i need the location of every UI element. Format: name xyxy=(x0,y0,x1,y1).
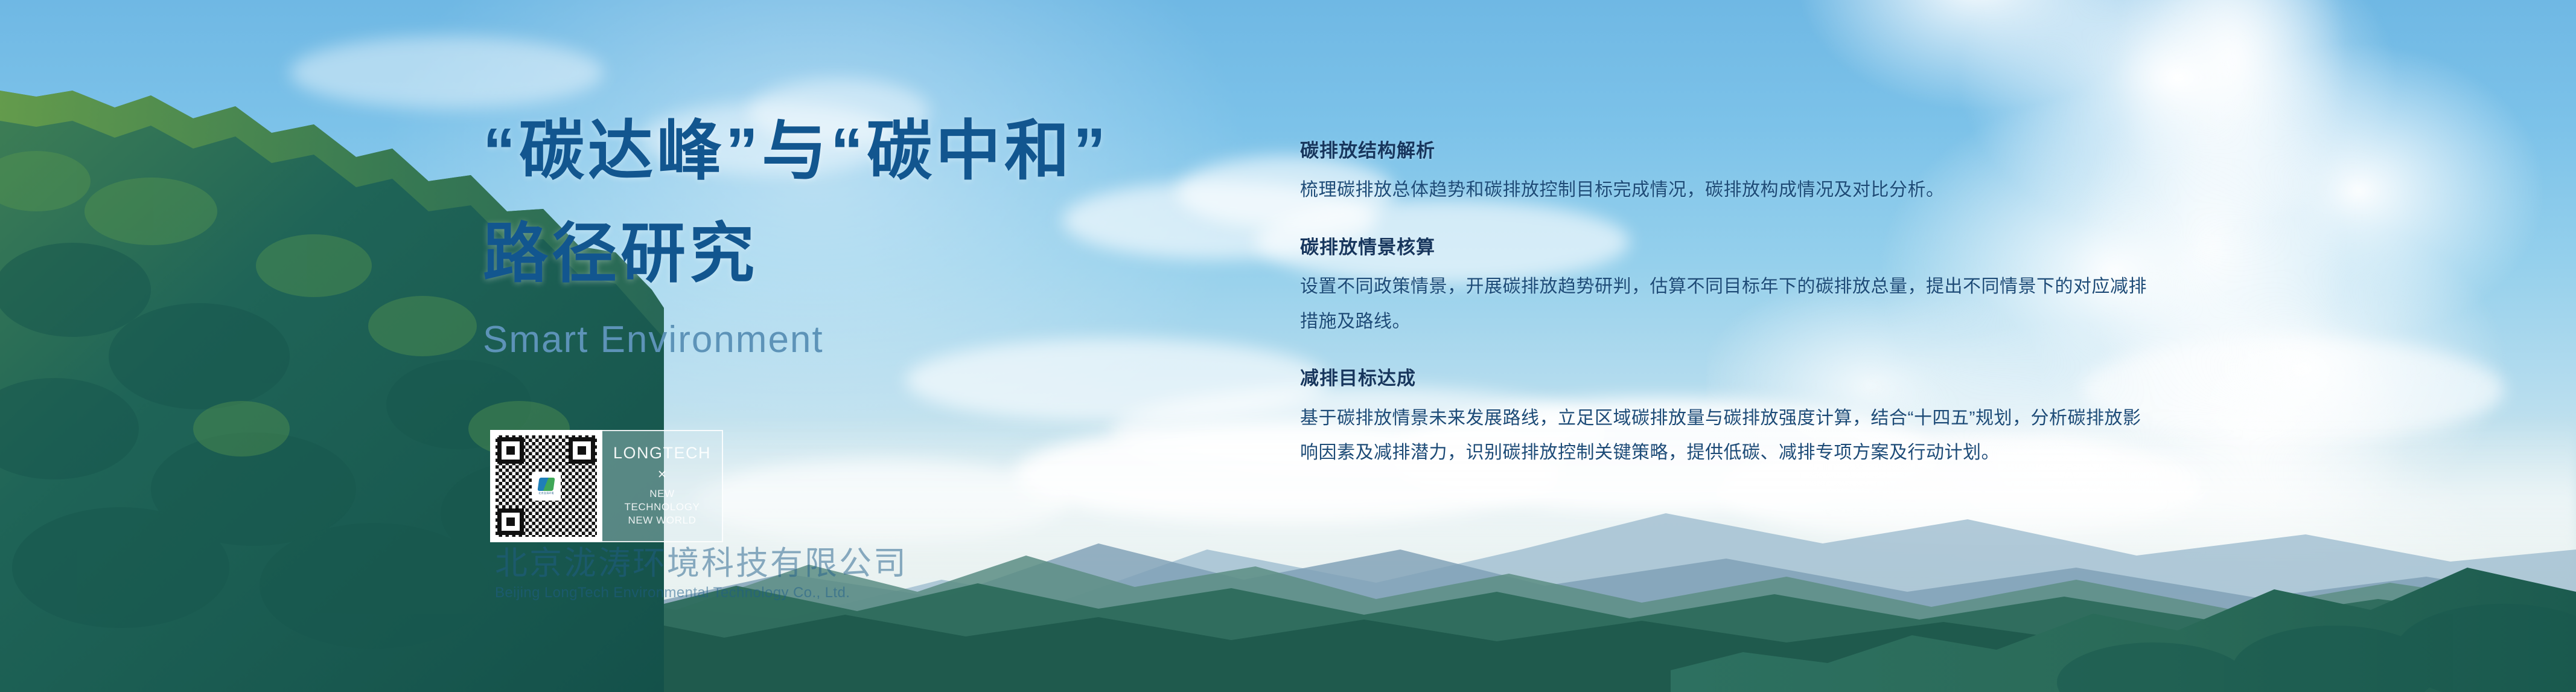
qr-finder-bottom-left-icon xyxy=(497,508,524,535)
foreground-forest-right xyxy=(1671,471,2576,692)
qr-center-logo-icon: 北京泷涛环境 xyxy=(532,472,561,501)
company-watermark: 北京泷涛环境科技有限公司 Beijing LongTech Environmen… xyxy=(495,547,881,600)
feature-heading: 减排目标达成 xyxy=(1300,367,2157,391)
watermark-company-cn: 北京泷涛环境科技有限公司 xyxy=(495,547,881,580)
hero-subtitle: Smart Environment xyxy=(483,321,1195,359)
watermark-company-en: Beijing LongTech Environmental Technolog… xyxy=(495,586,881,600)
qr-finder-top-left-icon xyxy=(497,437,524,464)
brand-tagline: NEW TECHNOLOGY NEW WORLD xyxy=(624,487,700,527)
hero-title-line-1: “碳达峰”与“碳中和” xyxy=(483,118,1195,184)
brand-separator-icon: ✕ xyxy=(657,469,667,481)
feature-list: 碳排放结构解析 梳理碳排放总体趋势和碳排放控制目标完成情况，碳排放构成情况及对比… xyxy=(1300,139,2157,470)
brand-tagline-line-1: NEW xyxy=(624,487,700,501)
qr-code-image[interactable]: 北京泷涛环境 xyxy=(496,435,597,537)
feature-item-1: 碳排放结构解析 梳理碳排放总体趋势和碳排放控制目标完成情况，碳排放构成情况及对比… xyxy=(1300,139,2157,208)
brand-tagline-line-3: NEW WORLD xyxy=(624,514,700,527)
brand-tagline-line-2: TECHNOLOGY xyxy=(624,501,700,514)
hero-banner: “碳达峰”与“碳中和” 路径研究 Smart Environment 碳排放结构… xyxy=(0,0,2576,692)
qr-finder-top-right-icon xyxy=(569,437,595,464)
feature-heading: 碳排放情景核算 xyxy=(1300,235,2157,260)
feature-heading: 碳排放结构解析 xyxy=(1300,139,2157,163)
feature-item-3: 减排目标达成 基于碳排放情景未来发展路线，立足区域碳排放量与碳排放强度计算，结合… xyxy=(1300,367,2157,470)
brand-name: LONGTECH xyxy=(613,445,711,461)
feature-body: 基于碳排放情景未来发展路线，立足区域碳排放量与碳排放强度计算，结合“十四五”规划… xyxy=(1300,401,2157,470)
longtech-logo-mark-icon xyxy=(537,478,555,491)
hero-title-line-2: 路径研究 xyxy=(483,221,1195,286)
feature-body: 梳理碳排放总体趋势和碳排放控制目标完成情况，碳排放构成情况及对比分析。 xyxy=(1300,173,2157,208)
hero-title-block: “碳达峰”与“碳中和” 路径研究 Smart Environment xyxy=(483,118,1195,359)
feature-item-2: 碳排放情景核算 设置不同政策情景，开展碳排放趋势研判，估算不同目标年下的碳排放总… xyxy=(1300,235,2157,339)
feature-body: 设置不同政策情景，开展碳排放趋势研判，估算不同目标年下的碳排放总量，提出不同情景… xyxy=(1300,269,2157,339)
qr-card-brand-panel: LONGTECH ✕ NEW TECHNOLOGY NEW WORLD xyxy=(602,430,723,542)
qr-code-panel[interactable]: 北京泷涛环境 xyxy=(490,430,602,542)
qr-code-card[interactable]: 北京泷涛环境 LONGTECH ✕ NEW TECHNOLOGY NEW WOR… xyxy=(490,430,723,542)
qr-logo-caption: 北京泷涛环境 xyxy=(538,492,553,495)
